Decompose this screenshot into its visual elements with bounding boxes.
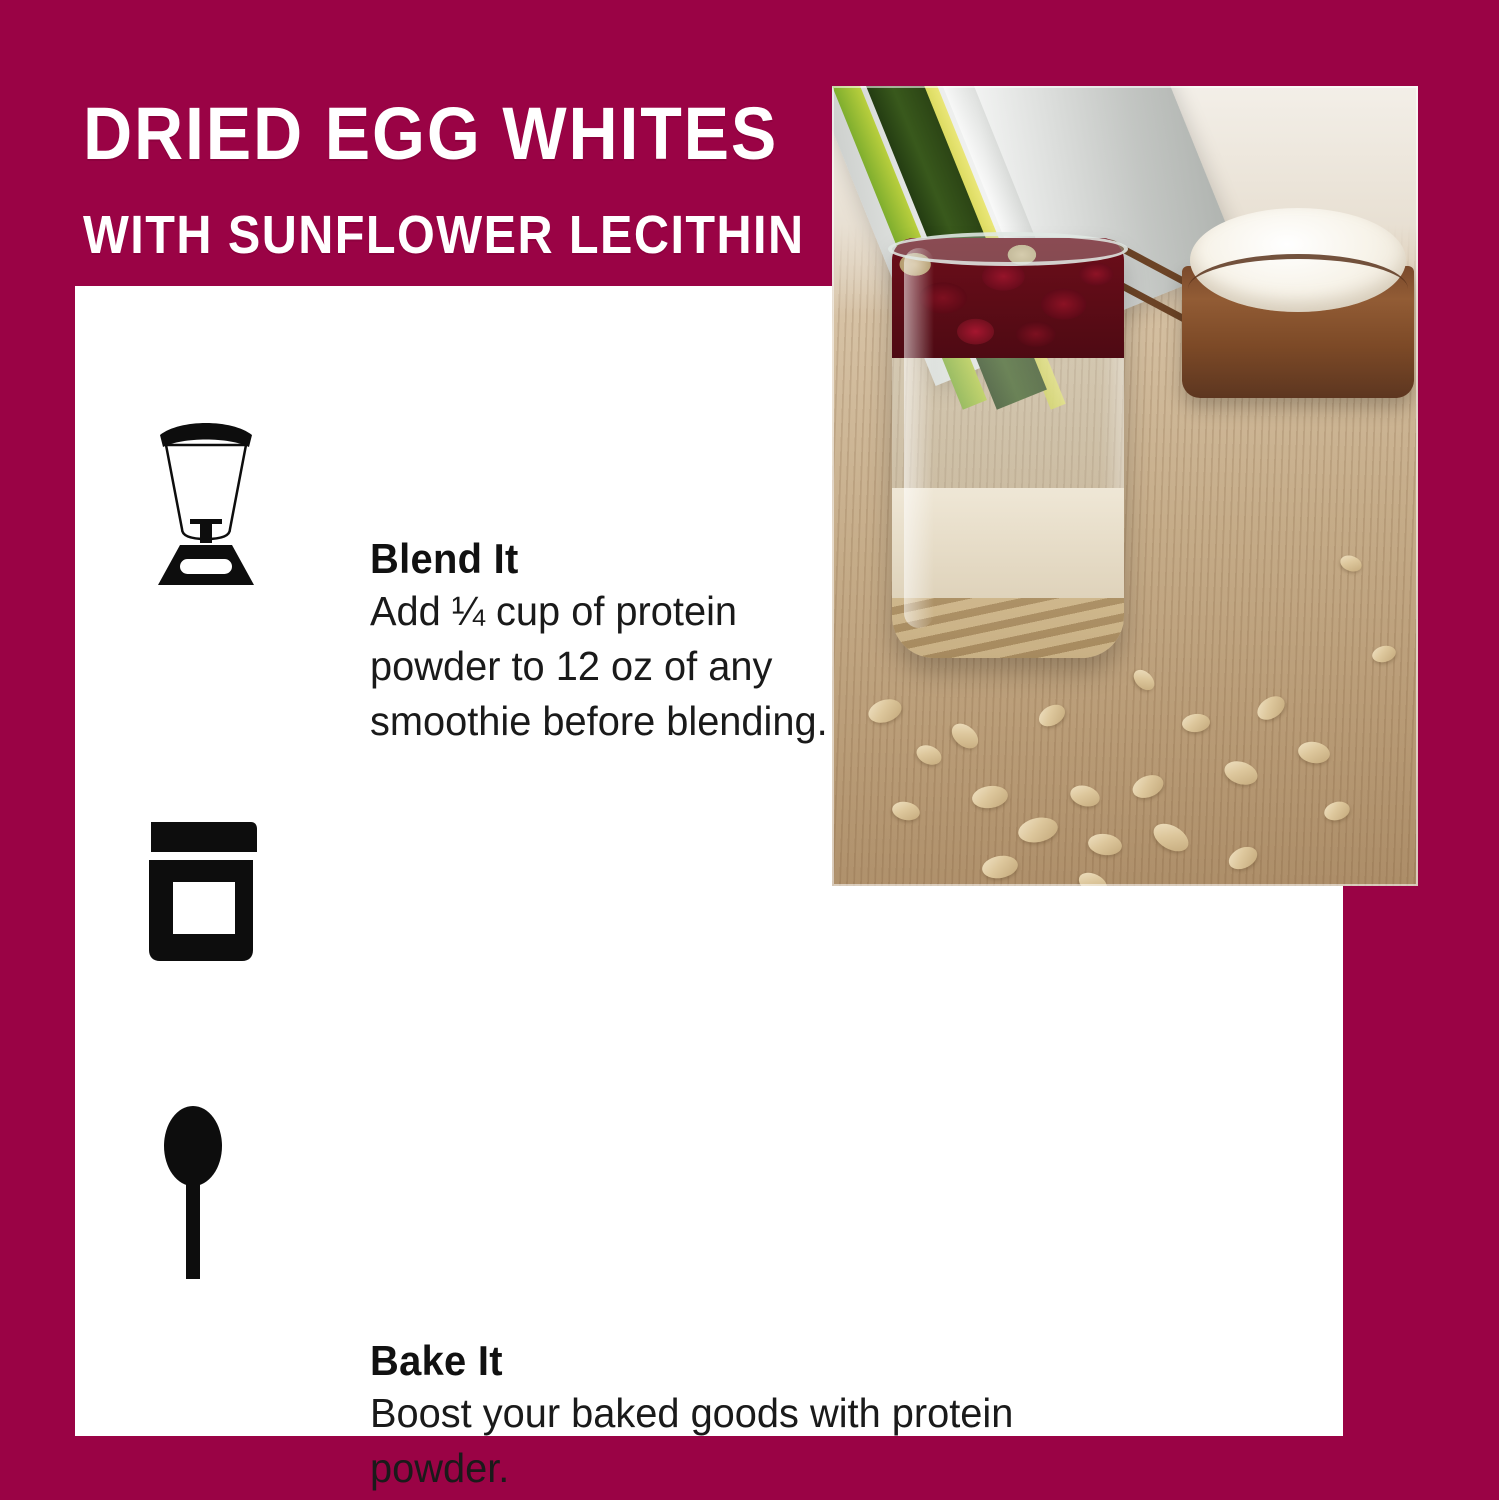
jar-rim — [888, 232, 1128, 266]
parfait-jar — [892, 238, 1124, 658]
product-photo: · NO SOY · MADE IN USA — [832, 86, 1418, 886]
infographic-canvas: DRIED EGG WHITES WITH SUNFLOWER LECITHIN — [0, 0, 1499, 1500]
page-title: DRIED EGG WHITES — [83, 96, 745, 172]
step-title: Bake It — [370, 1338, 1016, 1384]
measuring-cup — [1182, 208, 1414, 398]
page-subtitle: WITH SUNFLOWER LECITHIN — [83, 206, 731, 264]
glass-jar — [892, 238, 1124, 658]
step-blend-text: Blend It Add ¼ cup of protein powder to … — [370, 536, 870, 749]
jar-icon — [145, 816, 263, 968]
cup-rim — [1188, 254, 1408, 324]
glass-sheen — [904, 248, 934, 628]
step-body: Boost your baked goods with protein powd… — [370, 1386, 1030, 1496]
title-block: DRIED EGG WHITES WITH SUNFLOWER LECITHIN — [83, 96, 803, 264]
blender-icon — [150, 411, 262, 591]
step-body: Add ¼ cup of protein powder to 12 oz of … — [370, 584, 855, 749]
step-bake-text: Bake It Boost your baked goods with prot… — [370, 1338, 1050, 1496]
spoon-icon — [160, 1101, 230, 1281]
step-title: Blend It — [370, 536, 845, 582]
